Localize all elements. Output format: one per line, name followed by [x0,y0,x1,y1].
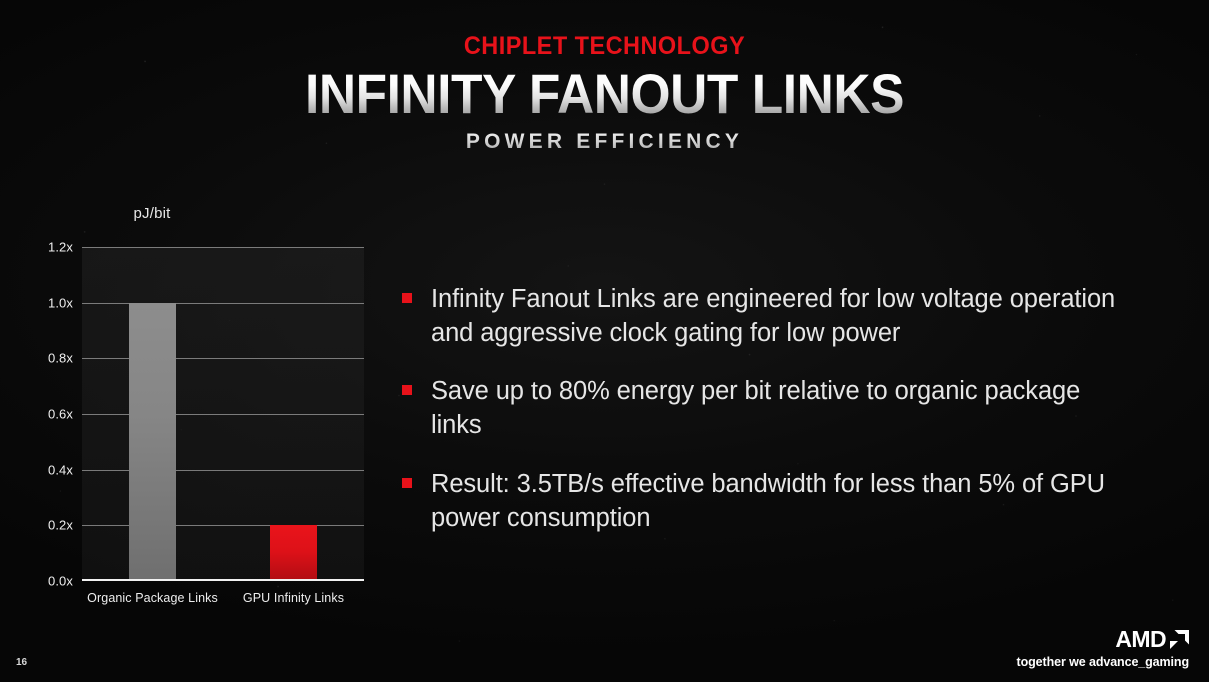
bullet-text: Result: 3.5TB/s effective bandwidth for … [431,467,1131,535]
chart-title: pJ/bit [22,205,282,222]
y-axis-tick-label: 1.2x [48,240,73,255]
list-item: Save up to 80% energy per bit relative t… [402,374,1162,442]
amd-logo: AMD together we advance_gaming [1017,628,1189,669]
list-item: Result: 3.5TB/s effective bandwidth for … [402,467,1162,535]
gridline [82,525,364,526]
chart-bar [270,525,317,581]
amd-wordmark: AMD [1017,628,1189,651]
gridline [82,303,364,304]
y-axis-tick-label: 0.2x [48,518,73,533]
slide-header: CHIPLET TECHNOLOGY INFINITY FANOUT LINKS… [0,34,1209,152]
power-efficiency-bar-chart: pJ/bit 1.2x1.0x0.8x0.6x0.4x0.2x0.0x Orga… [22,205,382,615]
x-axis-category-label: GPU Infinity Links [243,591,344,605]
bullet-square-icon [402,478,412,488]
list-item: Infinity Fanout Links are engineered for… [402,282,1162,350]
amd-brand-text: AMD [1115,628,1166,651]
bullet-square-icon [402,293,412,303]
gridline [82,247,364,248]
x-axis-category-label: Organic Package Links [87,591,218,605]
y-axis-tick-label: 0.8x [48,351,73,366]
chart-plot-area: 1.2x1.0x0.8x0.6x0.4x0.2x0.0x Organic Pac… [82,247,364,581]
gridline [82,414,364,415]
y-axis-tick-label: 0.6x [48,407,73,422]
slide-canvas: CHIPLET TECHNOLOGY INFINITY FANOUT LINKS… [0,0,1209,682]
gridline [82,358,364,359]
chart-axis-baseline [82,579,364,581]
eyebrow-label: CHIPLET TECHNOLOGY [36,34,1172,59]
gridline [82,470,364,471]
y-axis-tick-label: 1.0x [48,295,73,310]
page-title: INFINITY FANOUT LINKS [48,66,1160,122]
bullet-square-icon [402,385,412,395]
y-axis-tick-label: 0.4x [48,462,73,477]
page-number: 16 [16,657,27,668]
page-subtitle: POWER EFFICIENCY [0,131,1209,152]
bullet-list: Infinity Fanout Links are engineered for… [402,282,1162,535]
chart-bar [129,303,176,581]
amd-tagline: together we advance_gaming [1017,656,1189,669]
bullet-text: Save up to 80% energy per bit relative t… [431,374,1131,442]
y-axis-tick-label: 0.0x [48,574,73,589]
bullet-text: Infinity Fanout Links are engineered for… [431,282,1131,350]
amd-arrow-icon [1170,630,1189,649]
